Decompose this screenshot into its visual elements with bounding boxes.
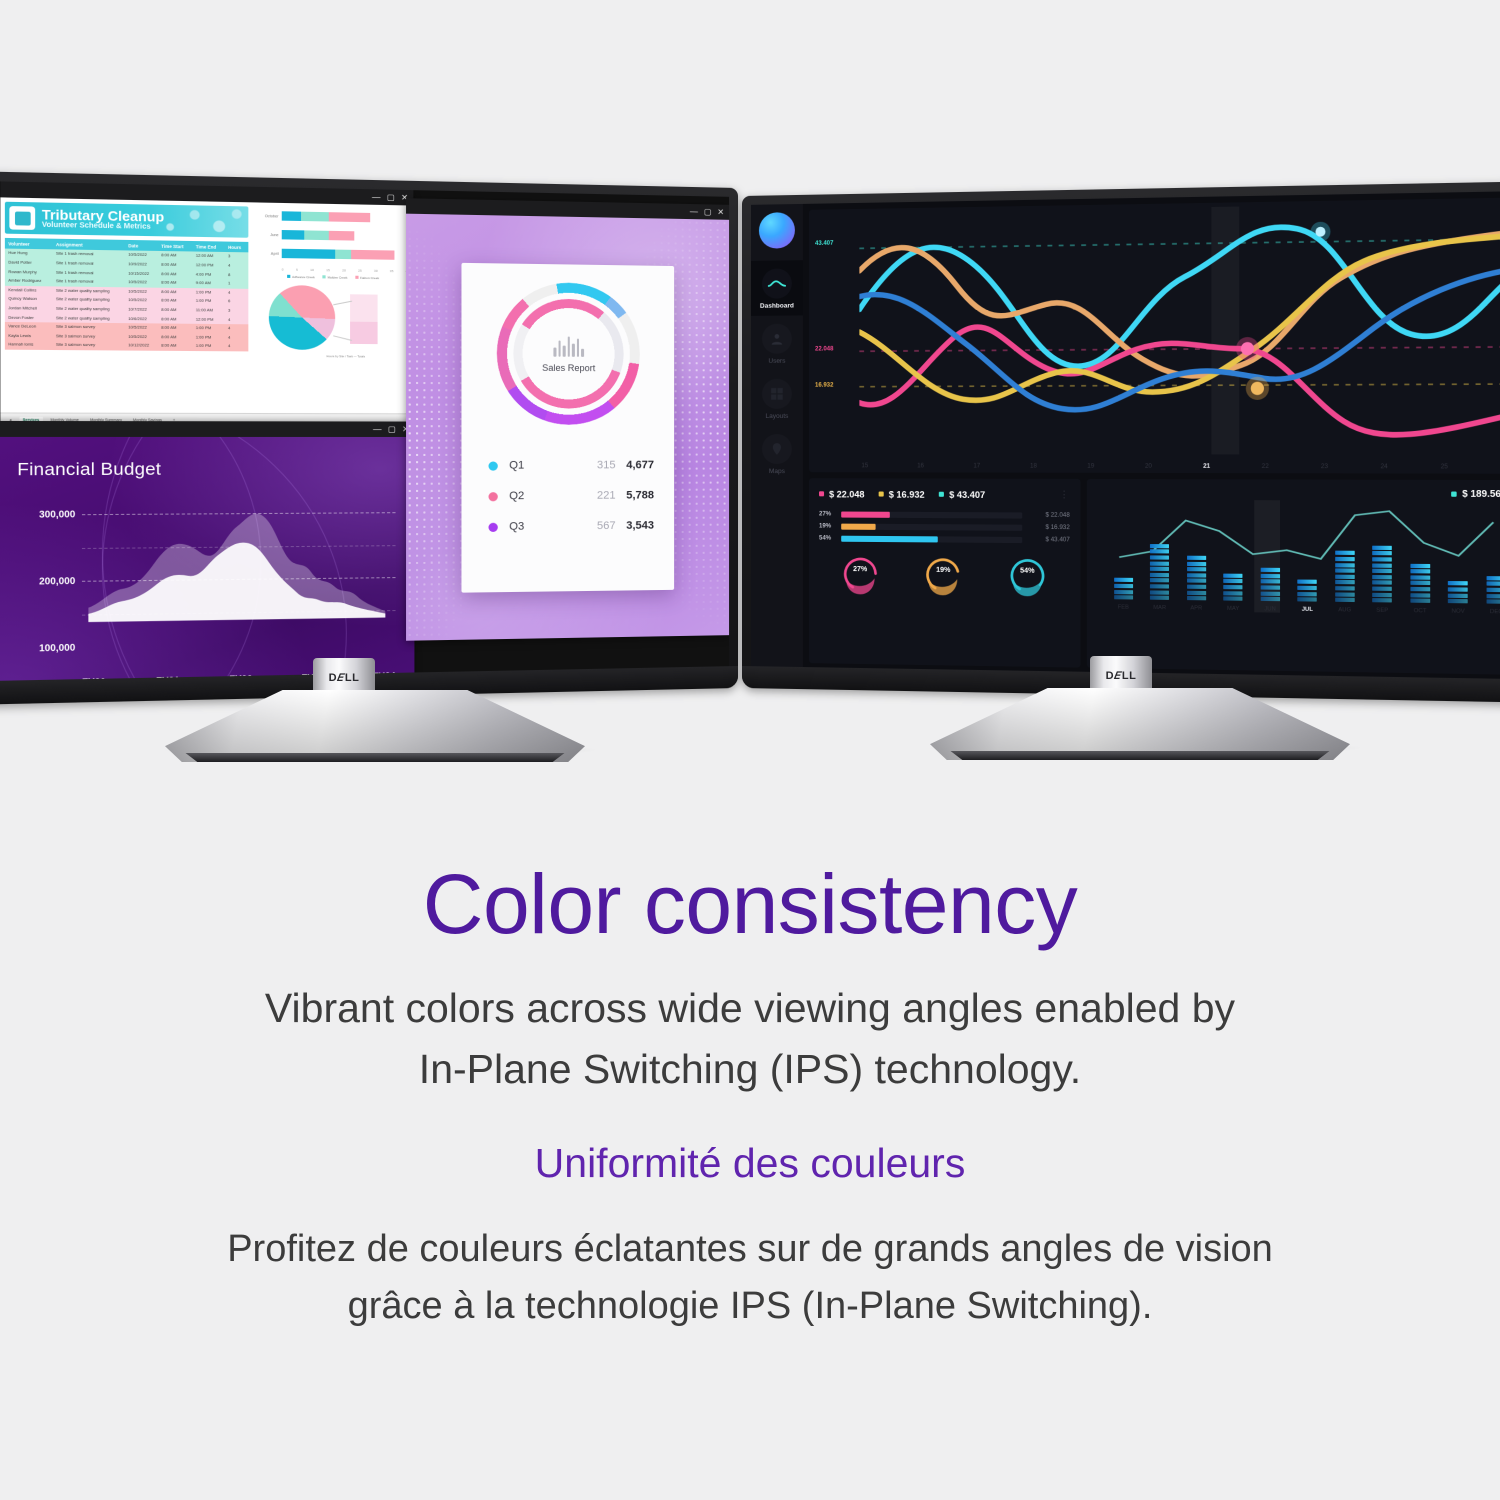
bar-segment bbox=[1372, 563, 1392, 567]
bar-segment bbox=[1372, 598, 1392, 602]
dell-logo: DELL bbox=[1090, 670, 1152, 682]
left-monitor-bezel: — ▢ ✕ Tributary Cleanup Volunteer Sched bbox=[0, 171, 738, 705]
dell-logo: DELL bbox=[313, 672, 375, 684]
axis-tick: 25 bbox=[358, 269, 362, 273]
kpi-chip-label: $ 22.048 bbox=[829, 489, 864, 499]
bar-segment bbox=[1187, 579, 1206, 583]
line-chart-panel: 43.40722.04816.932 bbox=[809, 198, 1500, 474]
legend-primary-value: 5,788 bbox=[616, 489, 654, 501]
dashboard-bottom-row: $ 22.048$ 16.932$ 43.407⋮ 27%$ 22.04819%… bbox=[809, 478, 1500, 675]
bar-column bbox=[1114, 578, 1133, 600]
legend-primary-value: 3,543 bbox=[616, 520, 654, 532]
bar-segment bbox=[1187, 590, 1206, 594]
subtitle-fr-line1: Profitez de couleurs éclatantes sur de g… bbox=[0, 1221, 1500, 1278]
table-row[interactable]: Hannah IonisSite 3 salmon survey10/12/20… bbox=[5, 340, 248, 351]
table-cell: 10/5/2022 bbox=[125, 332, 158, 341]
bar-segment bbox=[1335, 586, 1355, 590]
table-cell: 8:00 AM bbox=[158, 260, 193, 270]
kpi-bar-track bbox=[841, 536, 1022, 543]
bar-column bbox=[1448, 581, 1468, 603]
legend-secondary-value: 221 bbox=[554, 490, 615, 502]
line-chart-y-tick: 22.048 bbox=[815, 346, 833, 352]
bar-column bbox=[1486, 576, 1500, 604]
bar-segment bbox=[1372, 586, 1392, 590]
budget-y-tick: 200,000 bbox=[39, 576, 75, 587]
legend-dot-icon bbox=[488, 492, 497, 501]
left-stand-base bbox=[165, 690, 585, 762]
table-cell: 8:00 AM bbox=[158, 269, 193, 278]
donut-label: Sales Report bbox=[542, 363, 595, 373]
bar-segment bbox=[1223, 585, 1242, 589]
line-chart-x-tick: 21 bbox=[1203, 464, 1210, 470]
bar-segment bbox=[1335, 592, 1355, 596]
bar-segment bbox=[1448, 593, 1468, 597]
app-logo-icon bbox=[759, 212, 795, 249]
kpi-chip-row: $ 22.048$ 16.932$ 43.407⋮ bbox=[819, 488, 1070, 500]
bar-segment bbox=[282, 249, 336, 259]
legend-dot-icon bbox=[1451, 491, 1457, 496]
budget-area-series bbox=[82, 500, 396, 624]
bar-segment bbox=[1486, 582, 1500, 586]
line-chart-x-tick: 22 bbox=[1262, 464, 1269, 470]
bar-chart-legend: Adhesive CreekMolden CreekFalcon Creek bbox=[252, 274, 414, 280]
pie-chart bbox=[252, 285, 414, 351]
bar-segment bbox=[1298, 592, 1317, 596]
bar-segment bbox=[1223, 591, 1242, 595]
kpi-amount: $ 43.407 bbox=[1028, 537, 1070, 543]
bar-segment bbox=[329, 212, 370, 222]
table-col-header: Hours bbox=[225, 242, 249, 253]
table-cell: 1:00 PM bbox=[193, 342, 225, 351]
subtitle-en-line1: Vibrant colors across wide viewing angle… bbox=[0, 978, 1500, 1039]
legend-label: Q3 bbox=[509, 520, 554, 533]
bar-segment bbox=[1335, 551, 1355, 555]
bar-x-tick: MAR bbox=[1150, 605, 1169, 611]
line-chart-x-tick: 16 bbox=[917, 463, 924, 469]
bar-column bbox=[1223, 573, 1242, 601]
bar-segment bbox=[1260, 591, 1279, 595]
bar-segment bbox=[335, 250, 351, 260]
bar-row: April bbox=[254, 248, 407, 260]
bar-x-tick: NOV bbox=[1448, 608, 1468, 615]
sidebar-item-label: Users bbox=[768, 358, 785, 365]
kpi-chip-label: $ 16.932 bbox=[889, 489, 925, 499]
bar-segment bbox=[1410, 575, 1430, 579]
line-chart-y-tick: 43.407 bbox=[815, 241, 833, 247]
kpi-chip-dot-icon bbox=[819, 491, 824, 496]
bar-segment bbox=[1150, 584, 1169, 588]
bar-segment bbox=[1260, 568, 1279, 572]
bar-segment bbox=[1486, 594, 1500, 598]
table-cell: 3 bbox=[225, 306, 249, 315]
bar-segment bbox=[1187, 567, 1206, 571]
legend-item: Adhesive Creek bbox=[287, 275, 315, 280]
axis-tick: 20 bbox=[342, 268, 346, 272]
bar-x-tick: DEC bbox=[1486, 609, 1500, 616]
gauge-label: 54% bbox=[999, 567, 1055, 575]
headline-fr: Uniformité des couleurs bbox=[0, 1140, 1500, 1187]
table-cell: 6 bbox=[225, 297, 249, 306]
legend-item: Falcon Creek bbox=[355, 276, 379, 280]
table-cell: 1:00 PM bbox=[193, 333, 225, 342]
bar-chart-plot: FEBMARAPRMAYJUNJULAUGSEPOCTNOVDEC bbox=[1097, 500, 1500, 616]
bar-x-tick: AUG bbox=[1335, 607, 1355, 614]
minimize-icon[interactable]: — bbox=[372, 193, 380, 201]
table-cell: 3 bbox=[225, 252, 249, 261]
kpi-chip-dot-icon bbox=[879, 492, 884, 497]
bar-chart-panel: $ 189.563 FEBMARAPRMAYJUNJULAUGS bbox=[1087, 479, 1500, 675]
bar-segment bbox=[1410, 587, 1430, 591]
spreadsheet-window[interactable]: — ▢ ✕ Tributary Cleanup Volunteer Sched bbox=[0, 181, 413, 428]
bar-column bbox=[1410, 563, 1430, 603]
table-cell: Kayla Lewis bbox=[5, 331, 53, 341]
table-col-header: Volunteer bbox=[5, 238, 53, 250]
legend-secondary-value: 315 bbox=[554, 459, 615, 471]
spreadsheet-table-area: Tributary Cleanup Volunteer Schedule & M… bbox=[0, 197, 251, 413]
table-cell: 4:00 PM bbox=[193, 270, 225, 279]
table-cell: 10/6/2022 bbox=[125, 314, 158, 323]
sales-report-card: Sales Report Q13154,677Q22215,788Q35673,… bbox=[461, 263, 674, 593]
line-chart-series bbox=[859, 202, 1500, 455]
bar-segment bbox=[1187, 556, 1206, 560]
table-cell: 9:00 AM bbox=[193, 279, 225, 288]
sales-report-window[interactable]: — ▢ ✕ bbox=[406, 198, 729, 641]
legend-label: Q2 bbox=[509, 490, 554, 502]
bar-segment bbox=[1150, 578, 1169, 582]
sales-donut-chart: Sales Report bbox=[461, 263, 674, 447]
bar-column bbox=[1187, 556, 1206, 601]
bar-segment bbox=[282, 211, 301, 221]
donut-center: Sales Report bbox=[513, 298, 623, 408]
bar-segment bbox=[1335, 598, 1355, 602]
bar-segment bbox=[1335, 580, 1355, 584]
table-cell: 4 bbox=[225, 288, 249, 297]
kpi-chip: $ 22.048 bbox=[819, 489, 864, 499]
legend-secondary-value: 567 bbox=[554, 520, 615, 533]
sidebar-item-label: Layouts bbox=[766, 413, 789, 420]
budget-y-axis: 300,000200,000100,000 bbox=[17, 501, 77, 661]
table-cell: 10/9/2022 bbox=[125, 260, 158, 270]
bar-segment bbox=[1448, 581, 1468, 585]
bar-segment bbox=[1335, 557, 1355, 561]
bar-x-tick: OCT bbox=[1410, 608, 1430, 615]
legend-swatch-icon bbox=[322, 275, 325, 278]
table-cell: 4 bbox=[225, 333, 249, 342]
bar-row: June bbox=[254, 230, 407, 242]
bar-segment bbox=[1410, 569, 1430, 573]
budget-plot: 300,000200,000100,000 bbox=[17, 500, 395, 661]
gauge-label: 27% bbox=[833, 566, 888, 574]
bar-segment bbox=[1410, 581, 1430, 585]
close-icon[interactable]: ✕ bbox=[717, 208, 724, 216]
table-cell: 8:00 AM bbox=[158, 287, 193, 296]
line-chart-x-tick: 25 bbox=[1441, 464, 1448, 470]
gauge: 27% bbox=[833, 554, 888, 599]
sidebar-item-users[interactable]: Users bbox=[751, 315, 803, 371]
table-cell: Jordan Mitchell bbox=[5, 304, 53, 314]
axis-tick: 30 bbox=[374, 269, 378, 273]
sidebar-item-label: Dashboard bbox=[760, 302, 794, 309]
caption-block: Color consistency Vibrant colors across … bbox=[0, 860, 1500, 1335]
gauge-label: 19% bbox=[916, 567, 971, 575]
table-cell: 8:00 AM bbox=[158, 341, 193, 350]
pie-chart-caption: Hours by Site / Task — Totals bbox=[252, 354, 414, 359]
sidebar-item-label: Maps bbox=[769, 468, 785, 475]
subtitle-en-line2: In-Plane Switching (IPS) technology. bbox=[0, 1039, 1500, 1100]
bar-x-tick: APR bbox=[1187, 605, 1206, 611]
bar-segment bbox=[1335, 569, 1355, 573]
table-cell: Site 3 salmon survey bbox=[53, 341, 125, 351]
bar-chart-legend-label: $ 189.563 bbox=[1462, 488, 1500, 499]
table-cell: 1:00 PM bbox=[193, 297, 225, 306]
kpi-bar-fill bbox=[841, 512, 889, 518]
line-chart-x-tick: 23 bbox=[1321, 464, 1328, 470]
financial-budget-window[interactable]: — ▢ ✕ Financial Budget 300,000200,000100… bbox=[0, 421, 414, 683]
axis-tick: 10 bbox=[310, 268, 314, 272]
sidebar-item-dashboard[interactable]: Dashboard bbox=[751, 260, 803, 316]
line-chart-x-axis: 151617181920212223242526 bbox=[861, 463, 1500, 470]
kpi-bar-track bbox=[841, 512, 1022, 519]
table-cell: 10/7/2022 bbox=[125, 305, 158, 314]
budget-y-tick: 300,000 bbox=[39, 509, 75, 520]
user-icon bbox=[762, 324, 792, 354]
bar-segment bbox=[1335, 563, 1355, 567]
bar-segment bbox=[1372, 545, 1392, 549]
kpi-percent: 54% bbox=[819, 536, 835, 542]
right-stand-base bbox=[930, 688, 1350, 760]
line-chart-x-tick: 20 bbox=[1145, 464, 1152, 470]
minimize-icon[interactable]: — bbox=[373, 425, 381, 433]
table-cell: 11:00 AM bbox=[193, 306, 225, 315]
kpi-chip: $ 16.932 bbox=[879, 489, 925, 499]
legend-dot-icon bbox=[488, 461, 497, 470]
bar-chart-legend-row: $ 189.563 bbox=[1097, 487, 1500, 499]
bar-x-tick: JUN bbox=[1260, 606, 1279, 612]
bar-category-label: June bbox=[254, 232, 282, 237]
table-cell: 10/5/2022 bbox=[125, 287, 158, 296]
sales-legend: Q13154,677Q22215,788Q35673,543 bbox=[461, 447, 674, 533]
spreadsheet-charts-area: OctoberJuneApril 0510152025303540 Adhesi… bbox=[252, 202, 414, 413]
table-cell: 1:00 PM bbox=[193, 324, 225, 333]
left-monitor: — ▢ ✕ Tributary Cleanup Volunteer Sched bbox=[8, 188, 738, 688]
line-chart-x-tick: 24 bbox=[1380, 464, 1387, 470]
bar-segment bbox=[1448, 587, 1468, 591]
table-cell: 12:00 PM bbox=[193, 315, 225, 324]
bar-segment bbox=[1448, 599, 1468, 603]
bar-segment bbox=[1410, 563, 1430, 567]
subtitle-fr-line2: grâce à la technologie IPS (In-Plane Swi… bbox=[0, 1278, 1500, 1335]
bar-segment bbox=[1260, 574, 1279, 578]
kpi-bar-row: 27%$ 22.048 bbox=[819, 512, 1070, 519]
bar-track bbox=[282, 230, 407, 241]
stacked-bar-chart: OctoberJuneApril bbox=[252, 207, 414, 261]
bar-chart-legend-chip: $ 189.563 bbox=[1451, 488, 1500, 499]
left-monitor-screen: — ▢ ✕ Tributary Cleanup Volunteer Sched bbox=[0, 181, 729, 684]
table-cell: 4 bbox=[225, 324, 249, 333]
kpi-bar-fill bbox=[841, 524, 875, 530]
bar-columns bbox=[1114, 501, 1500, 604]
maximize-icon[interactable]: ▢ bbox=[704, 208, 712, 216]
maximize-icon[interactable]: ▢ bbox=[388, 425, 396, 433]
bar-segment bbox=[1486, 588, 1500, 592]
legend-label: Q1 bbox=[509, 459, 554, 471]
kebab-menu-icon[interactable]: ⋮ bbox=[1059, 489, 1069, 500]
map-icon bbox=[762, 434, 792, 464]
bar-segment bbox=[351, 250, 395, 260]
bar-row: October bbox=[254, 211, 407, 223]
layouts-icon bbox=[762, 379, 792, 409]
bar-segment bbox=[1486, 599, 1500, 603]
bar-segment bbox=[1410, 599, 1430, 603]
table-cell: 4 bbox=[225, 315, 249, 324]
bar-segment bbox=[1223, 596, 1242, 600]
bar-x-tick: JUL bbox=[1298, 607, 1317, 613]
bar-segment bbox=[1150, 573, 1169, 577]
bar-chart-x-axis: FEBMARAPRMAYJUNJULAUGSEPOCTNOVDEC bbox=[1114, 605, 1500, 616]
legend-row: Q13154,677 bbox=[488, 459, 654, 472]
kpi-chip-dot-icon bbox=[939, 492, 944, 497]
headline-en: Color consistency bbox=[0, 860, 1500, 948]
right-monitor-bezel: DashboardUsersLayoutsMaps 43.40722.04816… bbox=[742, 181, 1500, 702]
right-monitor: DashboardUsersLayoutsMaps 43.40722.04816… bbox=[742, 196, 1494, 688]
bar-segment bbox=[1410, 593, 1430, 597]
volunteer-table: VolunteerAssignmentDateTime StartTime En… bbox=[5, 238, 248, 351]
table-col-header: Time End bbox=[193, 241, 225, 252]
bar-segment bbox=[1150, 590, 1169, 594]
bar-category-label: October bbox=[254, 213, 282, 218]
bar-column bbox=[1372, 545, 1392, 602]
coral-art-icon bbox=[150, 205, 248, 238]
gauge: 19% bbox=[916, 555, 971, 600]
kpi-chip: $ 43.407 bbox=[939, 489, 985, 499]
table-cell: 8:00 AM bbox=[158, 332, 193, 341]
axis-tick: 15 bbox=[326, 268, 330, 272]
table-cell: 1:00 PM bbox=[193, 288, 225, 297]
legend-swatch-icon bbox=[355, 276, 358, 279]
budget-titlebar: — ▢ ✕ bbox=[0, 421, 414, 437]
bar-segment bbox=[1187, 561, 1206, 565]
table-cell: 1 bbox=[225, 279, 249, 288]
kpi-bar-fill bbox=[841, 536, 938, 543]
table-cell: Devon Foster bbox=[5, 313, 53, 323]
bar-segment bbox=[1150, 555, 1169, 559]
cleanup-logo-icon bbox=[9, 206, 35, 230]
dashboard-sidebar[interactable]: DashboardUsersLayoutsMaps bbox=[751, 204, 803, 669]
table-cell: 8:00 AM bbox=[158, 323, 193, 332]
sidebar-item-layouts[interactable]: Layouts bbox=[751, 371, 803, 426]
bar-category-label: April bbox=[254, 251, 282, 256]
spreadsheet-subtitle: Volunteer Schedule & Metrics bbox=[42, 222, 164, 232]
kpi-panel: $ 22.048$ 16.932$ 43.407⋮ 27%$ 22.04819%… bbox=[809, 478, 1080, 667]
legend-item: Molden Creek bbox=[322, 275, 347, 279]
dashboard-main: 43.40722.04816.932 bbox=[803, 191, 1500, 681]
product-hero-image: — ▢ ✕ Tributary Cleanup Volunteer Sched bbox=[0, 0, 1500, 1500]
bar-segment bbox=[1114, 584, 1133, 588]
bar-segment bbox=[1114, 590, 1133, 594]
maximize-icon[interactable]: ▢ bbox=[387, 193, 395, 201]
table-cell: 10/5/2022 bbox=[125, 323, 158, 332]
bar-segment bbox=[1372, 575, 1392, 579]
bar-track bbox=[282, 211, 407, 223]
line-chart-y-tick: 16.932 bbox=[815, 383, 833, 389]
kpi-bar-track bbox=[841, 524, 1022, 531]
table-cell: Vance DeLeon bbox=[5, 322, 53, 332]
subtitle-fr: Profitez de couleurs éclatantes sur de g… bbox=[0, 1221, 1500, 1335]
table-cell: 10/5/2022 bbox=[125, 278, 158, 287]
bar-segment bbox=[1150, 561, 1169, 565]
bar-segment bbox=[304, 230, 329, 240]
analytics-dashboard: DashboardUsersLayoutsMaps 43.40722.04816… bbox=[751, 191, 1500, 681]
bar-segment bbox=[1150, 567, 1169, 571]
spreadsheet-banner: Tributary Cleanup Volunteer Schedule & M… bbox=[5, 202, 248, 238]
bar-column bbox=[1150, 544, 1169, 600]
kpi-bar-list: 27%$ 22.04819%$ 16.93254%$ 43.407 bbox=[819, 512, 1070, 544]
line-chart-x-tick: 17 bbox=[973, 463, 980, 469]
bar-chart-icon bbox=[554, 334, 584, 357]
bar-segment bbox=[282, 230, 304, 240]
bar-segment bbox=[301, 212, 329, 222]
spreadsheet-body: Tributary Cleanup Volunteer Schedule & M… bbox=[0, 197, 413, 413]
line-chart-x-tick: 15 bbox=[861, 463, 868, 469]
table-cell: 8:00 AM bbox=[158, 314, 193, 323]
line-chart-x-tick: 18 bbox=[1030, 464, 1037, 470]
bar-segment bbox=[1372, 557, 1392, 561]
bar-segment bbox=[1187, 585, 1206, 589]
bar-x-tick: MAY bbox=[1223, 606, 1242, 612]
table-cell: 12:00 AM bbox=[193, 252, 225, 261]
legend-row: Q22215,788 bbox=[488, 489, 654, 502]
kpi-chip-label: $ 43.407 bbox=[949, 489, 985, 499]
table-col-header: Date bbox=[125, 240, 158, 251]
sidebar-item-maps[interactable]: Maps bbox=[751, 426, 803, 481]
bar-x-tick: FEB bbox=[1114, 605, 1133, 611]
budget-y-tick: 100,000 bbox=[39, 642, 75, 653]
legend-swatch-icon bbox=[287, 275, 290, 278]
bar-segment bbox=[1372, 551, 1392, 555]
bar-segment bbox=[1150, 596, 1169, 600]
line-chart-x-tick: 19 bbox=[1087, 464, 1094, 470]
table-col-header: Time Start bbox=[158, 240, 193, 251]
bar-segment bbox=[1150, 544, 1169, 548]
bar-segment bbox=[1114, 595, 1133, 599]
bar-segment bbox=[1298, 580, 1317, 584]
table-body: Hue HungSite 1 trash removal10/5/20228:0… bbox=[5, 249, 248, 351]
axis-tick: 35 bbox=[390, 269, 394, 273]
bar-segment bbox=[1114, 578, 1133, 582]
bar-segment bbox=[1223, 573, 1242, 577]
axis-tick: 0 bbox=[282, 267, 284, 271]
line-chart-y-axis: 43.40722.04816.932 bbox=[815, 209, 859, 454]
bar-segment bbox=[1372, 592, 1392, 596]
bar-segment bbox=[1260, 597, 1279, 601]
minimize-icon[interactable]: — bbox=[690, 208, 698, 216]
table-cell: 10/15/2022 bbox=[125, 269, 158, 278]
bar-track bbox=[282, 249, 407, 260]
bar-segment bbox=[1187, 573, 1206, 577]
table-cell: 10/5/2022 bbox=[125, 296, 158, 305]
pie-chart-circle bbox=[269, 285, 335, 350]
table-cell: 8:00 AM bbox=[158, 296, 193, 305]
bar-segment bbox=[1150, 550, 1169, 554]
table-cell: 8:00 AM bbox=[158, 278, 193, 287]
pie-of-pie-bar bbox=[350, 294, 378, 344]
kpi-bar-row: 19%$ 16.932 bbox=[819, 524, 1070, 532]
bar-segment bbox=[1298, 586, 1317, 590]
gauge-row: 27%19%54% bbox=[819, 554, 1070, 601]
legend-row: Q35673,543 bbox=[488, 520, 654, 533]
budget-chart-title: Financial Budget bbox=[17, 459, 161, 481]
bar-chart-x-axis: 0510152025303540 bbox=[252, 267, 414, 273]
